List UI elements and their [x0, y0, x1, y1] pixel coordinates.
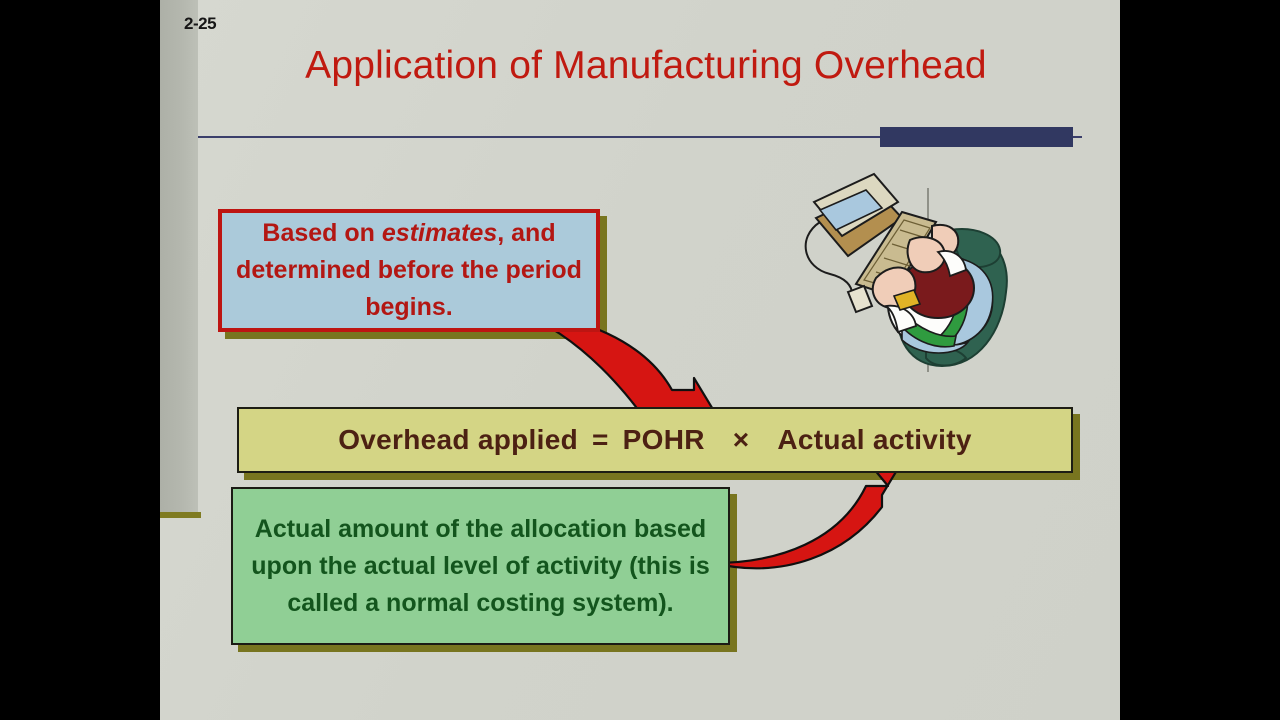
formula-text: Overhead applied=POHR×Actual activity: [239, 424, 1071, 456]
title-rule-end-cap: [880, 127, 1073, 147]
formula-equals: =: [592, 424, 609, 455]
mouse-icon: [848, 286, 872, 312]
estimates-text-emphasis: estimates: [382, 219, 497, 247]
presentation-slide: 2-25 Application of Manufacturing Overhe…: [160, 0, 1120, 720]
page-title: Application of Manufacturing Overhead: [206, 44, 1086, 88]
formula-rate: POHR: [623, 424, 705, 455]
formula-activity: Actual activity: [777, 424, 971, 455]
estimates-callout-box: Based on estimates, and determined befor…: [218, 209, 600, 332]
actual-box-text: Actual amount of the allocation based up…: [233, 511, 728, 622]
estimates-text-before: Based on: [262, 219, 381, 247]
estimates-box-body: Based on estimates, and determined befor…: [218, 209, 600, 332]
person-at-computer-clipart: [790, 160, 1040, 390]
slide-number: 2-25: [184, 14, 216, 34]
actual-amount-callout-box: Actual amount of the allocation based up…: [231, 487, 730, 645]
left-band-foot-accent: [160, 512, 201, 518]
video-frame: 2-25 Application of Manufacturing Overhe…: [0, 0, 1280, 720]
left-decorative-band: [160, 0, 198, 512]
formula-times: ×: [733, 424, 750, 455]
formula-box: Overhead applied=POHR×Actual activity: [237, 407, 1073, 473]
formula-box-body: Overhead applied=POHR×Actual activity: [237, 407, 1073, 473]
actual-box-body: Actual amount of the allocation based up…: [231, 487, 730, 645]
estimates-box-text: Based on estimates, and determined befor…: [222, 215, 596, 326]
forearm-right-icon: [908, 237, 945, 272]
formula-lhs: Overhead applied: [338, 424, 578, 455]
